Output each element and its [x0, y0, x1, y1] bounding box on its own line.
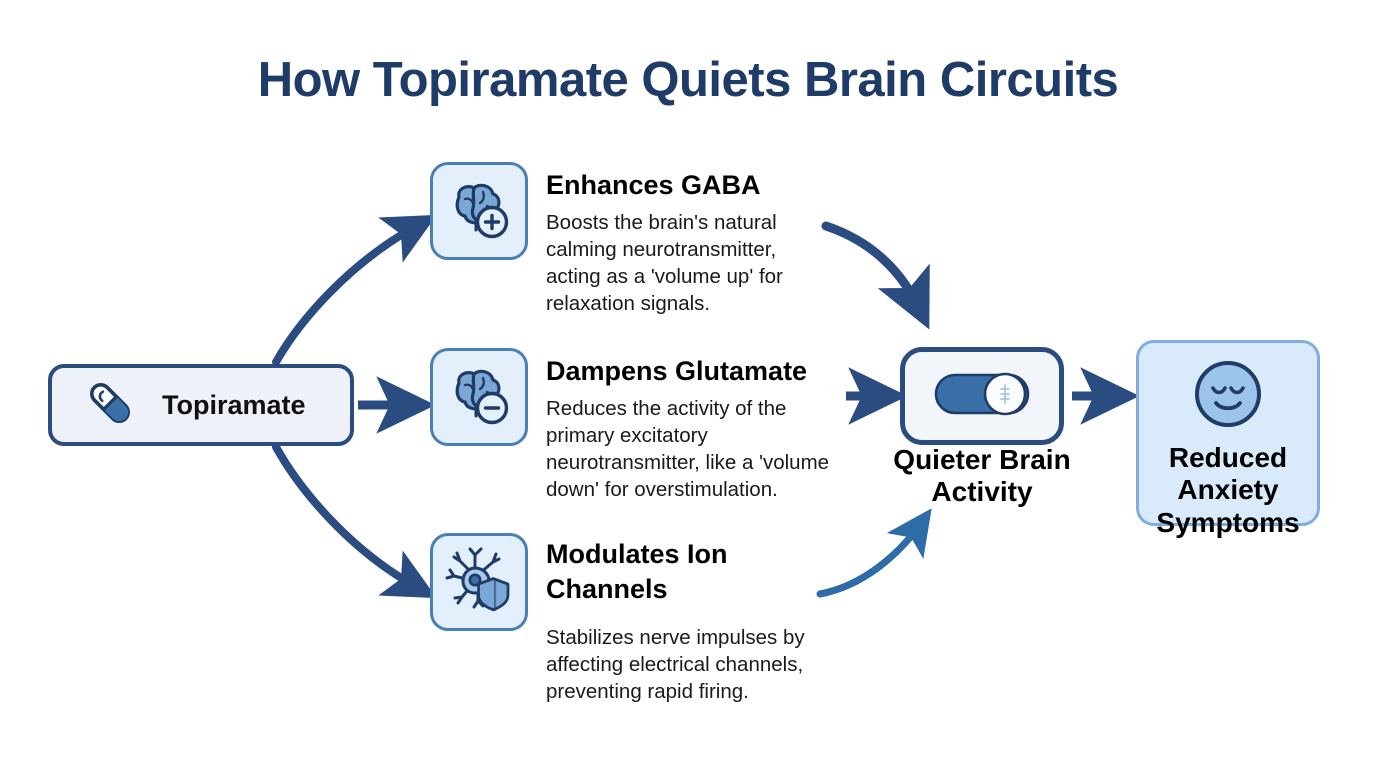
mechanism-description: Boosts the brain's natural calming neuro… — [546, 209, 818, 317]
brain-minus-icon — [443, 359, 515, 436]
pill-capsule-icon — [84, 377, 136, 434]
brain-plus-icon — [443, 173, 515, 250]
node-topiramate-label: Topiramate — [162, 390, 306, 421]
node-quieter-brain-activity-label: Quieter Brain Activity — [878, 444, 1086, 509]
icon-box-modulates-ion-channels — [430, 533, 528, 631]
edge-topiramate-to-ion-channels — [276, 447, 420, 589]
icon-box-enhances-gaba — [430, 162, 528, 260]
node-reduced-anxiety-symptoms[interactable]: Reduced Anxiety Symptoms — [1136, 340, 1320, 526]
infographic-canvas: How Topiramate Quiets Brain Circuits — [0, 0, 1376, 768]
mechanism-text-modulates-ion-channels: Modulates Ion Channels Stabilizes nerve … — [546, 533, 836, 705]
mechanism-title: Modulates Ion Channels — [546, 537, 836, 606]
edge-topiramate-to-gaba — [276, 224, 420, 362]
mechanism-dampens-glutamate[interactable]: Dampens Glutamate Reduces the activity o… — [430, 348, 846, 503]
mechanism-text-dampens-glutamate: Dampens Glutamate Reduces the activity o… — [546, 348, 846, 503]
mechanism-description: Reduces the activity of the primary exci… — [546, 395, 846, 503]
toggle-switch-icon[interactable] — [933, 368, 1031, 425]
calm-face-icon — [1191, 357, 1265, 436]
mechanism-enhances-gaba[interactable]: Enhances GABA Boosts the brain's natural… — [430, 162, 818, 317]
mechanism-text-enhances-gaba: Enhances GABA Boosts the brain's natural… — [546, 162, 818, 317]
mechanism-title: Dampens Glutamate — [546, 354, 836, 389]
edge-gaba-to-quieter-brain — [826, 226, 920, 310]
node-topiramate[interactable]: Topiramate — [48, 364, 354, 446]
node-reduced-anxiety-symptoms-label: Reduced Anxiety Symptoms — [1136, 442, 1320, 539]
mechanism-modulates-ion-channels[interactable]: Modulates Ion Channels Stabilizes nerve … — [430, 533, 836, 705]
icon-box-dampens-glutamate — [430, 348, 528, 446]
neuron-shield-icon — [442, 543, 516, 622]
page-title: How Topiramate Quiets Brain Circuits — [0, 52, 1376, 108]
node-quieter-brain-activity[interactable] — [900, 347, 1064, 445]
mechanism-title: Enhances GABA — [546, 168, 818, 203]
mechanism-description: Stabilizes nerve impulses by affecting e… — [546, 624, 836, 705]
